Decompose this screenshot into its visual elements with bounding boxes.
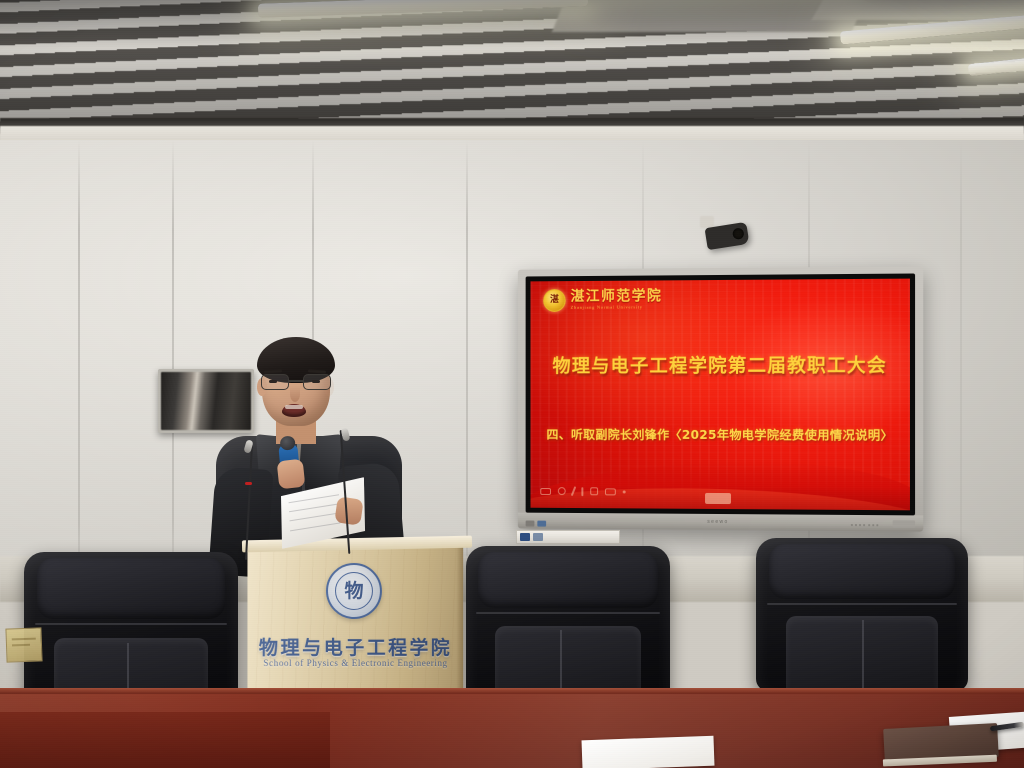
eyeglass-bridge — [289, 380, 303, 382]
display-chin: seewo — [518, 513, 923, 532]
slide: 湛 湛江师范学院 Zhanjiang Normal University 物理与… — [531, 279, 910, 511]
palette-icon[interactable] — [605, 488, 616, 495]
pointer-icon[interactable] — [581, 487, 583, 496]
display-brand-label: seewo — [707, 519, 728, 525]
slide-title: 物理与电子工程学院第二届教职工大会 — [531, 351, 910, 378]
chair-seam — [476, 612, 660, 614]
microphone-indicator — [245, 482, 252, 485]
control-button-icon[interactable] — [520, 533, 530, 541]
presenter-hand — [277, 459, 306, 490]
ceiling — [0, 0, 1024, 128]
wall-plaque — [5, 627, 42, 662]
slide-page-badge — [705, 493, 731, 504]
presenter-eye — [312, 380, 320, 383]
control-button-icon[interactable] — [533, 533, 543, 541]
wall-control-panel[interactable] — [516, 530, 620, 544]
slide-annotation-toolbar[interactable] — [540, 486, 625, 496]
university-name-en: Zhanjiang Normal University — [571, 306, 663, 311]
display-speaker-grille — [851, 524, 879, 526]
pen-icon[interactable] — [571, 486, 576, 496]
presenter-eye — [269, 380, 277, 383]
shapes-icon[interactable] — [540, 488, 551, 495]
eraser-icon[interactable] — [558, 487, 566, 495]
presenter-mouth — [282, 404, 306, 417]
usb3-port-icon — [537, 521, 546, 527]
white-paper-sheet — [582, 736, 715, 768]
presenter-nose — [290, 386, 300, 402]
presentation-screen[interactable]: 湛 湛江师范学院 Zhanjiang Normal University 物理与… — [518, 266, 923, 531]
university-logo-text: 湛江师范学院 Zhanjiang Normal University — [571, 290, 663, 311]
meeting-room-photo: 湛 湛江师范学院 Zhanjiang Normal University 物理与… — [0, 0, 1024, 768]
chair-headrest — [37, 558, 225, 618]
chair-seam — [35, 623, 228, 625]
plaque-line — [12, 644, 30, 647]
more-icon[interactable] — [623, 490, 626, 493]
slide-subtitle: 四、听取副院长刘锋作〈2025年物电学院经费使用情况说明〉 — [531, 425, 910, 444]
select-icon[interactable] — [590, 487, 598, 495]
university-seal-icon: 湛 — [543, 289, 565, 312]
chair-headrest — [769, 544, 956, 599]
university-name-cn: 湛江师范学院 — [571, 290, 663, 304]
conference-table-left — [0, 712, 330, 768]
table-edge — [0, 688, 1024, 694]
ceiling-shading — [0, 0, 1024, 128]
presenter-hand — [334, 496, 363, 525]
presenter — [214, 340, 404, 570]
chair-seam — [767, 603, 958, 605]
display-logo-plate — [893, 520, 915, 527]
plaque-line — [12, 638, 36, 641]
screen-bezel: 湛 湛江师范学院 Zhanjiang Normal University 物理与… — [526, 273, 915, 515]
brown-notebook — [883, 723, 999, 763]
university-seal-glyph: 湛 — [550, 296, 559, 305]
usb-port-icon — [526, 521, 535, 527]
display-ports — [526, 521, 546, 527]
chair-headrest — [478, 552, 658, 608]
university-logo: 湛 湛江师范学院 Zhanjiang Normal University — [543, 288, 662, 312]
